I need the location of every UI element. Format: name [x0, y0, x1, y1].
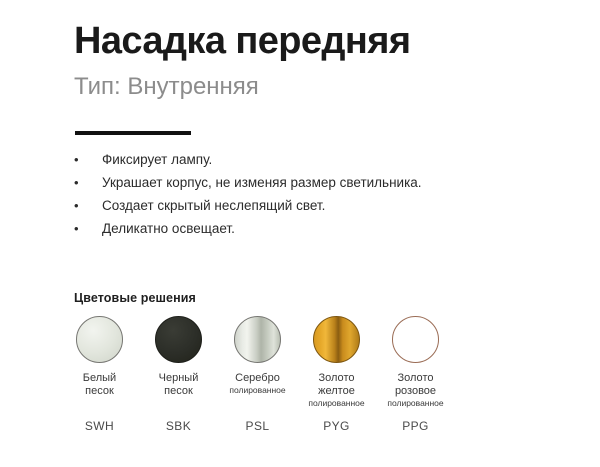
- color-name-line3: полированное: [308, 398, 364, 409]
- color-code-sbk: SBK: [139, 419, 218, 433]
- list-item: • Создает скрытый неслепящий свет.: [74, 196, 422, 215]
- color-name-line1: Серебро: [229, 372, 285, 385]
- color-name-line3: полированное: [229, 385, 285, 396]
- colors-section-heading: Цветовые решения: [74, 291, 196, 305]
- page-header: Насадка передняя Тип: Внутренняя: [74, 22, 572, 100]
- feature-text: Фиксирует лампу.: [102, 150, 212, 169]
- color-name-line1: Золото: [387, 372, 443, 385]
- title-divider-rule: [75, 131, 191, 135]
- color-name-line2: песок: [159, 385, 199, 398]
- color-label: Черный песок: [159, 372, 199, 398]
- color-swatch-icon[interactable]: [392, 316, 439, 363]
- color-code-ppg: PPG: [376, 419, 455, 433]
- color-label: Серебро полированное: [229, 372, 285, 396]
- color-option-sbk[interactable]: Черный песок: [139, 316, 218, 398]
- color-swatch-row: Белый песок Черный песок Серебро полиров…: [60, 316, 455, 409]
- color-name-line2: розовое: [387, 385, 443, 398]
- color-name-line2: желтое: [308, 385, 364, 398]
- product-spec-page: Насадка передняя Тип: Внутренняя • Фикси…: [0, 0, 600, 467]
- list-item: • Украшает корпус, не изменяя размер све…: [74, 173, 422, 192]
- feature-list: • Фиксирует лампу. • Украшает корпус, не…: [74, 150, 422, 242]
- color-label: Золото розовое полированное: [387, 372, 443, 409]
- color-label: Белый песок: [83, 372, 116, 398]
- color-option-swh[interactable]: Белый песок: [60, 316, 139, 398]
- bullet-icon: •: [74, 173, 102, 192]
- color-option-psl[interactable]: Серебро полированное: [218, 316, 297, 396]
- color-swatch-icon[interactable]: [234, 316, 281, 363]
- color-swatch-icon[interactable]: [313, 316, 360, 363]
- color-code-pyg: PYG: [297, 419, 376, 433]
- color-option-pyg[interactable]: Золото желтое полированное: [297, 316, 376, 409]
- color-code-row: SWH SBK PSL PYG PPG: [60, 419, 455, 433]
- color-code-psl: PSL: [218, 419, 297, 433]
- page-subtitle: Тип: Внутренняя: [74, 74, 572, 100]
- color-name-line3: полированное: [387, 398, 443, 409]
- color-option-ppg[interactable]: Золото розовое полированное: [376, 316, 455, 409]
- color-swatch-icon[interactable]: [155, 316, 202, 363]
- color-name-line2: песок: [83, 385, 116, 398]
- color-name-line1: Черный: [159, 372, 199, 385]
- list-item: • Фиксирует лампу.: [74, 150, 422, 169]
- color-code-swh: SWH: [60, 419, 139, 433]
- bullet-icon: •: [74, 196, 102, 215]
- feature-text: Деликатно освещает.: [102, 219, 235, 238]
- bullet-icon: •: [74, 150, 102, 169]
- color-swatch-icon[interactable]: [76, 316, 123, 363]
- feature-text: Создает скрытый неслепящий свет.: [102, 196, 325, 215]
- color-label: Золото желтое полированное: [308, 372, 364, 409]
- color-name-line1: Золото: [308, 372, 364, 385]
- bullet-icon: •: [74, 219, 102, 238]
- color-name-line1: Белый: [83, 372, 116, 385]
- feature-text: Украшает корпус, не изменяя размер свети…: [102, 173, 422, 192]
- list-item: • Деликатно освещает.: [74, 219, 422, 238]
- page-title: Насадка передняя: [74, 22, 572, 62]
